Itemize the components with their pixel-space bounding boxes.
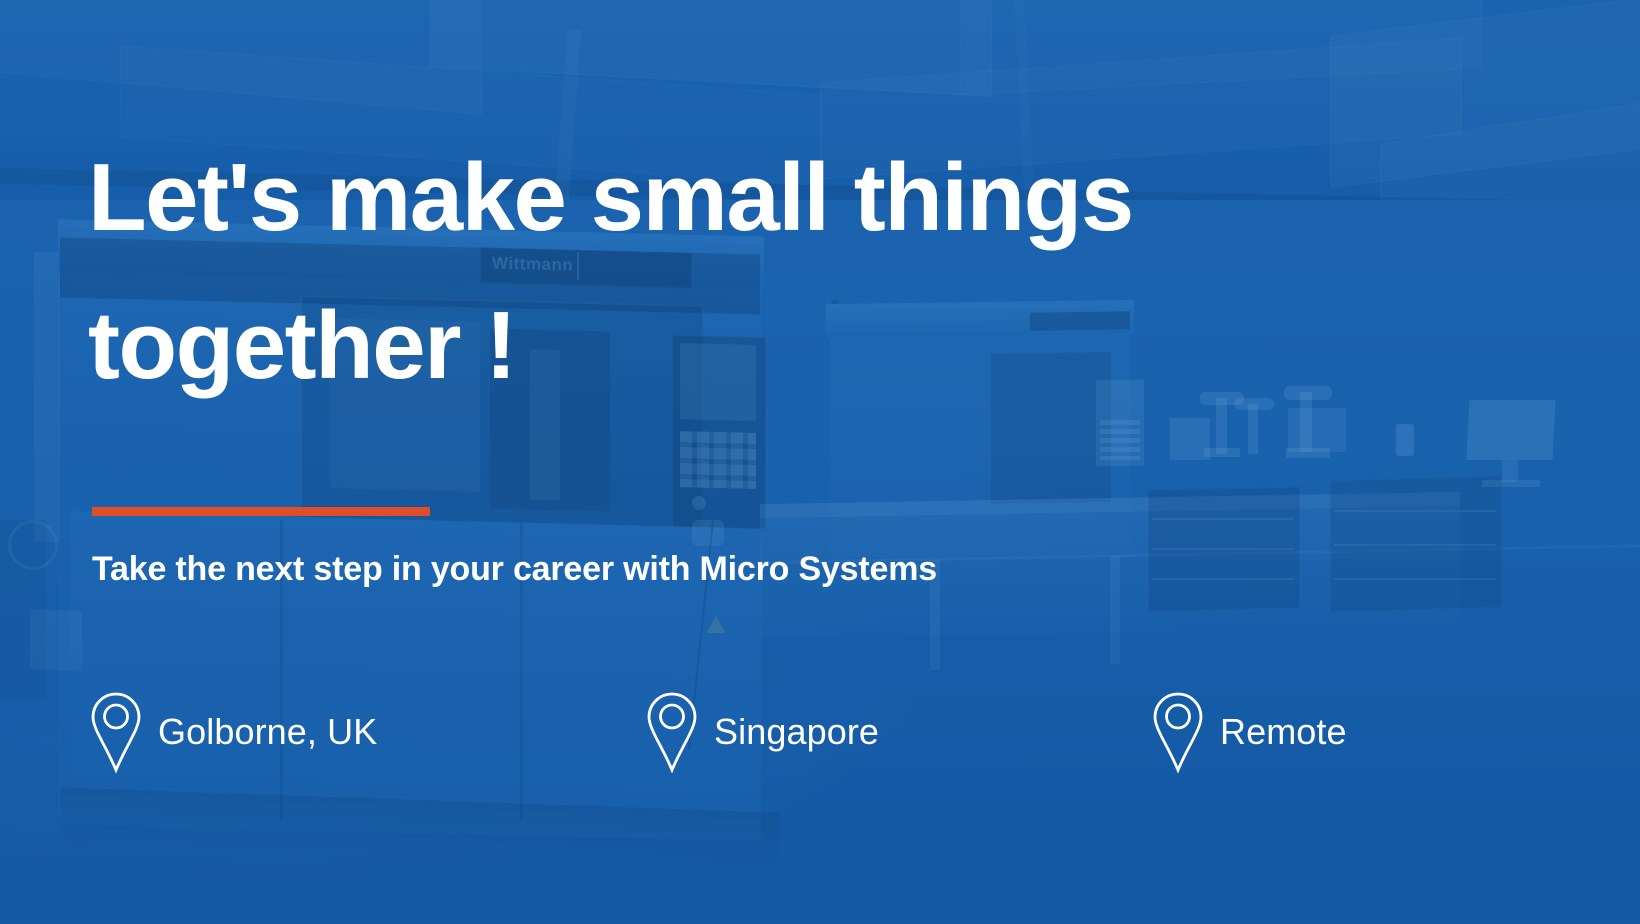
location-label: Singapore [714,711,879,753]
map-pin-icon [644,690,700,774]
page-subtitle: Take the next step in your career with M… [92,550,937,589]
location-item-golborne-uk[interactable]: Golborne, UK [88,690,377,774]
location-label: Golborne, UK [158,711,377,753]
map-pin-icon [88,690,144,774]
page-title: Let's make small things together ! [88,124,1408,420]
location-list: Golborne, UK Singapore Remote [88,690,1488,790]
map-pin-icon [1150,690,1206,774]
hero-banner: Wittmann [0,0,1640,924]
location-item-remote[interactable]: Remote [1150,690,1347,774]
location-item-singapore[interactable]: Singapore [644,690,879,774]
hero-content: Let's make small things together ! Take … [0,0,1640,924]
location-label: Remote [1220,711,1347,753]
accent-rule [92,507,430,516]
